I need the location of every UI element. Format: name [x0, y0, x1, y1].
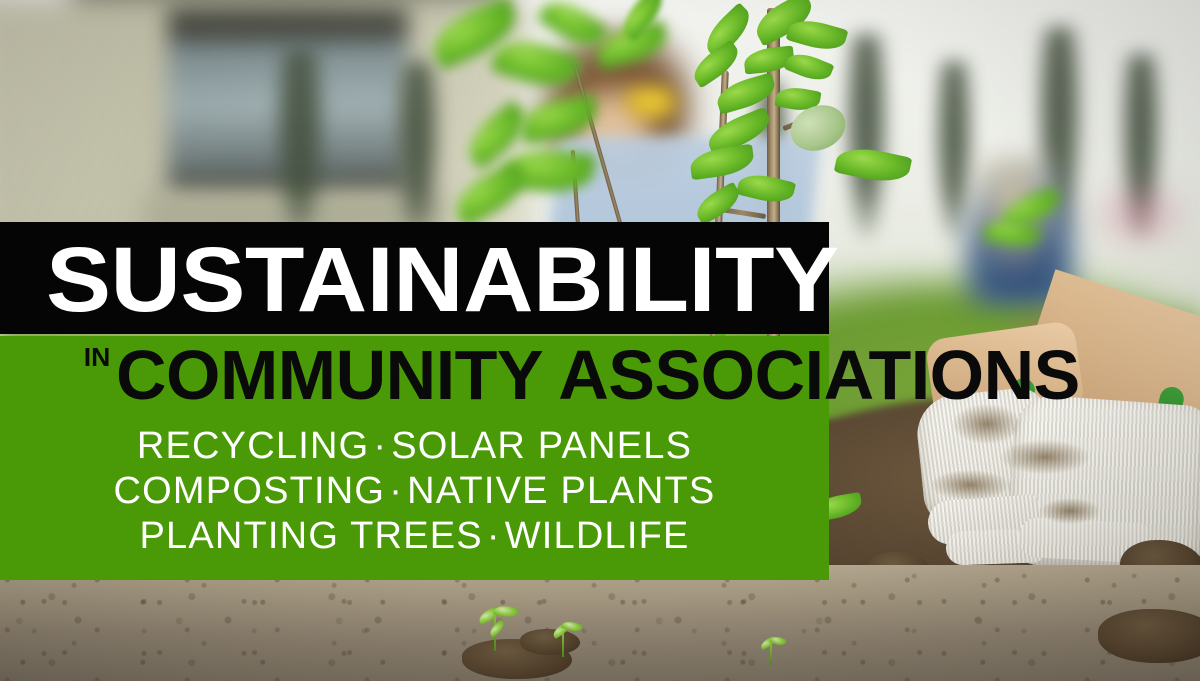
foreground-soil-texture — [0, 565, 1200, 681]
topic-item: COMPOSTING — [114, 470, 386, 512]
sapling-leaf — [736, 170, 796, 208]
page-title: SUSTAINABILITY — [46, 234, 883, 326]
glove-dirt-smudge — [1000, 440, 1090, 474]
glove-dirt-smudge — [1040, 498, 1100, 524]
banner-graphic: SUSTAINABILITY IN COMMUNITY ASSOCIATIONS… — [0, 0, 1200, 681]
topic-line: PLANTING TREES·WILDLIFE — [0, 514, 829, 559]
foreground-foliage — [490, 32, 582, 96]
topic-list: RECYCLING·SOLAR PANELS COMPOSTING·NATIVE… — [0, 424, 829, 559]
soil-clod — [520, 629, 580, 655]
topic-item: SOLAR PANELS — [391, 425, 692, 467]
topic-line: RECYCLING·SOLAR PANELS — [0, 424, 829, 469]
topic-separator: · — [369, 425, 391, 467]
foreground-foliage — [448, 160, 532, 227]
sapling-leaf — [834, 143, 913, 188]
glove-dirt-smudge — [930, 470, 1010, 500]
topic-item: PLANTING TREES — [139, 515, 482, 557]
subtitle: IN COMMUNITY ASSOCIATIONS — [84, 340, 1080, 410]
foreground-foliage — [517, 94, 600, 145]
topic-separator: · — [385, 470, 407, 512]
soil-clod — [1098, 609, 1200, 663]
topic-item: RECYCLING — [137, 425, 370, 467]
topic-item: NATIVE PLANTS — [407, 470, 715, 512]
topic-item: WILDLIFE — [505, 515, 690, 557]
subtitle-preposition: IN — [84, 344, 111, 370]
topic-separator: · — [483, 515, 505, 557]
subtitle-main: COMMUNITY ASSOCIATIONS — [116, 340, 1080, 410]
sapling-leaf — [688, 144, 755, 181]
topic-line: COMPOSTING·NATIVE PLANTS — [0, 469, 829, 514]
